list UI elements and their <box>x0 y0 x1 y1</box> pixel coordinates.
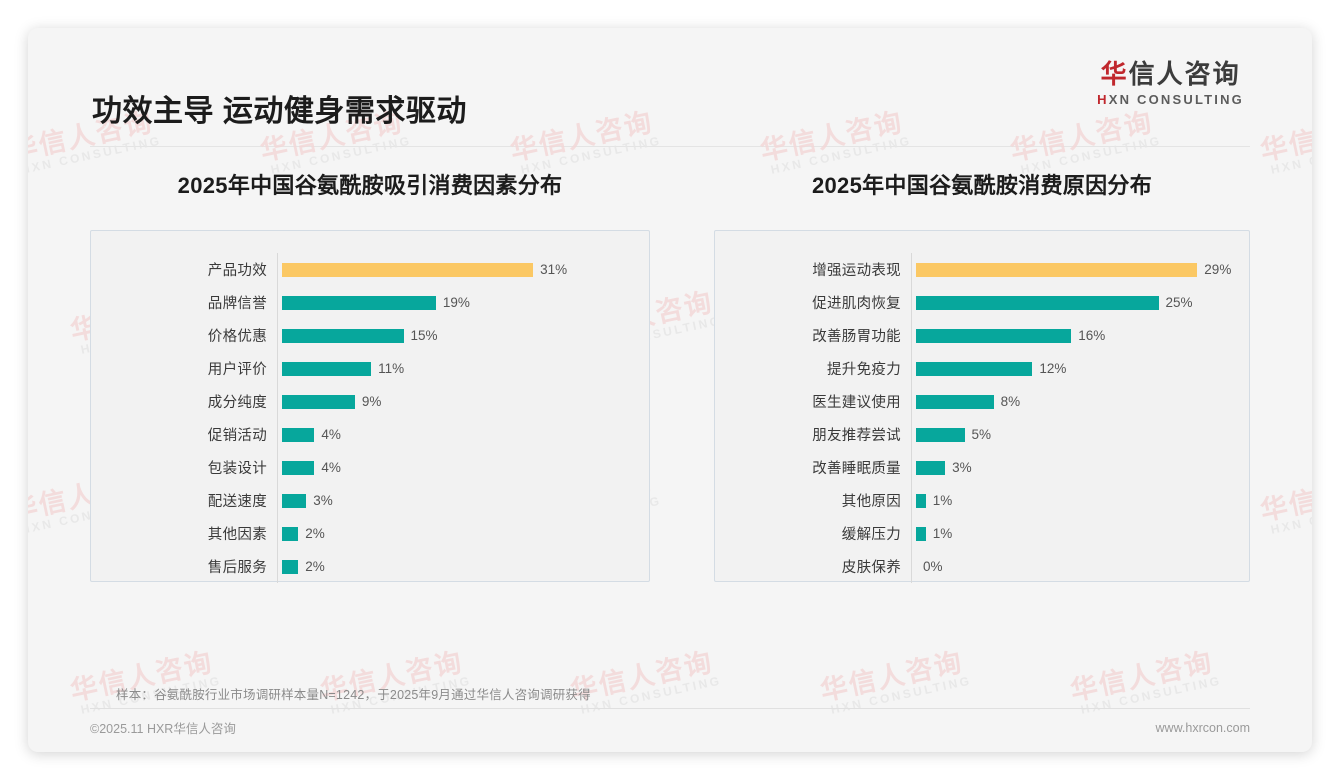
bar-row: 改善肠胃功能16% <box>715 319 1231 352</box>
chart-block-right: 2025年中国谷氨酰胺消费原因分布 增强运动表现29%促进肌肉恢复25%改善肠胃… <box>670 168 1312 582</box>
bar-value-label: 11% <box>378 361 404 376</box>
bar-track: 25% <box>911 286 1231 319</box>
bar-row: 其他原因1% <box>715 484 1231 517</box>
bar-track: 16% <box>911 319 1231 352</box>
title-divider <box>90 146 1250 147</box>
bar-row: 配送速度3% <box>91 484 631 517</box>
bar-value-label: 16% <box>1078 328 1105 343</box>
slide-footer: ©2025.11 HXR华信人咨询 www.hxrcon.com <box>90 718 1250 737</box>
bar-category-label: 用户评价 <box>91 358 277 379</box>
watermark-text-cn: 华信人咨询 <box>818 647 970 706</box>
brand-name-en: HXN CONSULTING <box>1097 92 1244 107</box>
bar-fill <box>282 263 533 277</box>
brand-cn-highlight: 华 <box>1101 59 1129 89</box>
bar-track: 5% <box>911 418 1231 451</box>
bar-row: 增强运动表现29% <box>715 253 1231 286</box>
bar-fill <box>282 527 298 541</box>
bar-track: 0% <box>911 550 1231 583</box>
bar-category-label: 品牌信誉 <box>91 292 277 313</box>
bar-row: 促销活动4% <box>91 418 631 451</box>
bar-category-label: 成分纯度 <box>91 391 277 412</box>
footer-website[interactable]: www.hxrcon.com <box>1156 721 1250 735</box>
source-note: 样本：谷氨酰胺行业市场调研样本量N=1242，于2025年9月通过华信人咨询调研… <box>116 684 591 703</box>
bar-fill <box>916 296 1159 310</box>
chart-title-right: 2025年中国谷氨酰胺消费原因分布 <box>714 168 1250 200</box>
charts-container: 2025年中国谷氨酰胺吸引消费因素分布 产品功效31%品牌信誉19%价格优惠15… <box>28 168 1312 582</box>
bar-row: 朋友推荐尝试5% <box>715 418 1231 451</box>
bar-category-label: 提升免疫力 <box>715 358 911 379</box>
bar-category-label: 包装设计 <box>91 457 277 478</box>
brand-cn-rest: 信人咨询 <box>1129 59 1241 89</box>
bar-category-label: 朋友推荐尝试 <box>715 424 911 445</box>
bar-track: 31% <box>277 253 631 286</box>
bar-category-label: 配送速度 <box>91 490 277 511</box>
bar-track: 8% <box>911 385 1231 418</box>
bar-value-label: 4% <box>321 427 341 442</box>
bar-track: 19% <box>277 286 631 319</box>
bar-track: 12% <box>911 352 1231 385</box>
bar-row: 产品功效31% <box>91 253 631 286</box>
watermark-text-en: HXN CONSULTING <box>830 675 973 718</box>
bar-fill <box>282 296 436 310</box>
watermark-text-en: HXN CONSULTING <box>1080 675 1223 718</box>
bar-fill <box>916 461 945 475</box>
bar-category-label: 产品功效 <box>91 259 277 280</box>
chart-title-left: 2025年中国谷氨酰胺吸引消费因素分布 <box>90 168 650 200</box>
chart-block-left: 2025年中国谷氨酰胺吸引消费因素分布 产品功效31%品牌信誉19%价格优惠15… <box>28 168 670 582</box>
slide-header: 功效主导 运动健身需求驱动 华信人咨询 HXN CONSULTING <box>28 28 1312 140</box>
bar-category-label: 改善睡眠质量 <box>715 457 911 478</box>
bar-value-label: 9% <box>362 394 382 409</box>
bar-value-label: 0% <box>923 559 943 574</box>
bar-category-label: 其他因素 <box>91 523 277 544</box>
bar-track: 11% <box>277 352 631 385</box>
bar-row: 缓解压力1% <box>715 517 1231 550</box>
watermark-text-en: HXN CONSULTING <box>580 675 723 718</box>
bar-category-label: 其他原因 <box>715 490 911 511</box>
bar-category-label: 价格优惠 <box>91 325 277 346</box>
bar-track: 3% <box>277 484 631 517</box>
bar-fill <box>916 527 926 541</box>
bar-rows-left: 产品功效31%品牌信誉19%价格优惠15%用户评价11%成分纯度9%促销活动4%… <box>91 253 631 583</box>
bar-rows-right: 增强运动表现29%促进肌肉恢复25%改善肠胃功能16%提升免疫力12%医生建议使… <box>715 253 1231 583</box>
chart-panel-left: 产品功效31%品牌信誉19%价格优惠15%用户评价11%成分纯度9%促销活动4%… <box>90 230 650 582</box>
bar-row: 提升免疫力12% <box>715 352 1231 385</box>
bar-value-label: 25% <box>1166 295 1193 310</box>
bar-fill <box>282 362 371 376</box>
footer-divider <box>90 708 1250 709</box>
bar-track: 4% <box>277 451 631 484</box>
watermark-text-cn: 华信人咨询 <box>1068 647 1220 706</box>
bar-value-label: 12% <box>1039 361 1066 376</box>
bar-value-label: 3% <box>952 460 972 475</box>
bar-category-label: 促销活动 <box>91 424 277 445</box>
bar-track: 15% <box>277 319 631 352</box>
bar-row: 成分纯度9% <box>91 385 631 418</box>
bar-fill <box>916 362 1032 376</box>
slide-canvas: 华信人咨询HXN CONSULTING华信人咨询HXN CONSULTING华信… <box>28 28 1312 752</box>
bar-track: 2% <box>277 550 631 583</box>
bar-track: 1% <box>911 517 1231 550</box>
bar-fill <box>916 428 965 442</box>
bar-value-label: 1% <box>933 526 953 541</box>
brand-en-highlight: H <box>1097 92 1109 107</box>
bar-value-label: 3% <box>313 493 333 508</box>
bar-category-label: 皮肤保养 <box>715 556 911 577</box>
bar-value-label: 4% <box>321 460 341 475</box>
bar-track: 1% <box>911 484 1231 517</box>
bar-value-label: 31% <box>540 262 567 277</box>
bar-row: 皮肤保养0% <box>715 550 1231 583</box>
bar-fill <box>916 263 1197 277</box>
bar-value-label: 15% <box>411 328 438 343</box>
bar-row: 改善睡眠质量3% <box>715 451 1231 484</box>
bar-fill <box>282 461 314 475</box>
page-title: 功效主导 运动健身需求驱动 <box>92 86 467 130</box>
bar-track: 2% <box>277 517 631 550</box>
bar-row: 其他因素2% <box>91 517 631 550</box>
bar-value-label: 8% <box>1001 394 1021 409</box>
bar-row: 促进肌肉恢复25% <box>715 286 1231 319</box>
bar-fill <box>282 560 298 574</box>
brand-name-cn: 华信人咨询 <box>1097 60 1244 90</box>
bar-fill <box>282 395 355 409</box>
bar-fill <box>916 329 1071 343</box>
bar-track: 29% <box>911 253 1231 286</box>
bar-row: 医生建议使用8% <box>715 385 1231 418</box>
bar-fill <box>282 494 306 508</box>
bar-category-label: 增强运动表现 <box>715 259 911 280</box>
bar-value-label: 2% <box>305 526 325 541</box>
bar-value-label: 19% <box>443 295 470 310</box>
bar-row: 用户评价11% <box>91 352 631 385</box>
bar-row: 价格优惠15% <box>91 319 631 352</box>
bar-value-label: 2% <box>305 559 325 574</box>
bar-track: 3% <box>911 451 1231 484</box>
bar-fill <box>916 494 926 508</box>
chart-panel-right: 增强运动表现29%促进肌肉恢复25%改善肠胃功能16%提升免疫力12%医生建议使… <box>714 230 1250 582</box>
brand-en-rest: XN CONSULTING <box>1109 92 1244 107</box>
bar-row: 包装设计4% <box>91 451 631 484</box>
bar-track: 4% <box>277 418 631 451</box>
bar-category-label: 缓解压力 <box>715 523 911 544</box>
bar-category-label: 售后服务 <box>91 556 277 577</box>
bar-fill <box>282 428 314 442</box>
bar-value-label: 29% <box>1204 262 1231 277</box>
bar-category-label: 促进肌肉恢复 <box>715 292 911 313</box>
bar-row: 售后服务2% <box>91 550 631 583</box>
bar-fill <box>916 395 994 409</box>
bar-value-label: 5% <box>972 427 992 442</box>
footer-copyright: ©2025.11 HXR华信人咨询 <box>90 718 236 737</box>
bar-value-label: 1% <box>933 493 953 508</box>
brand-logo: 华信人咨询 HXN CONSULTING <box>1097 60 1244 107</box>
bar-row: 品牌信誉19% <box>91 286 631 319</box>
bar-track: 9% <box>277 385 631 418</box>
bar-category-label: 医生建议使用 <box>715 391 911 412</box>
bar-category-label: 改善肠胃功能 <box>715 325 911 346</box>
bar-fill <box>282 329 404 343</box>
